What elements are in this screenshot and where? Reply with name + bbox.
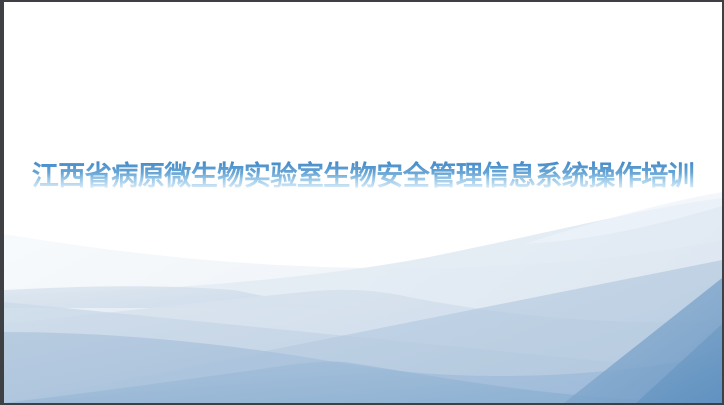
slide-title-graphic: 江西省病原微生物实验室生物安全管理信息系统操作培训 江西省病原微生物实验室生物安…: [4, 152, 722, 198]
background-wave-artwork: [4, 2, 722, 403]
presentation-slide: 江西省病原微生物实验室生物安全管理信息系统操作培训 江西省病原微生物实验室生物安…: [0, 0, 724, 405]
slide-title-text: 江西省病原微生物实验室生物安全管理信息系统操作培训: [32, 160, 695, 191]
slide-canvas: 江西省病原微生物实验室生物安全管理信息系统操作培训 江西省病原微生物实验室生物安…: [4, 2, 722, 403]
slide-title-block: 江西省病原微生物实验室生物安全管理信息系统操作培训 江西省病原微生物实验室生物安…: [4, 152, 722, 198]
